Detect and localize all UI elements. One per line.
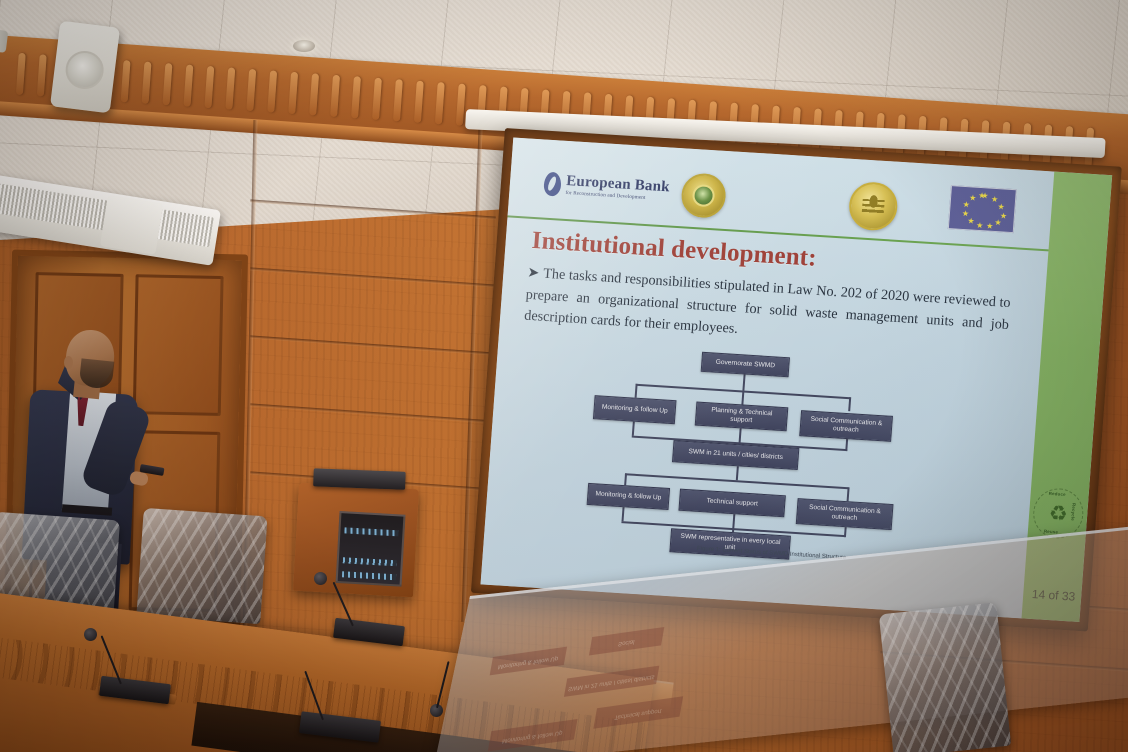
connector: [848, 397, 851, 411]
connector: [741, 390, 744, 404]
reflected-node: Social: [589, 627, 664, 656]
wall-speaker: [50, 21, 120, 114]
recessed-downlight-icon: [293, 40, 315, 52]
chair[interactable]: [136, 508, 267, 624]
mic-head-icon: [84, 628, 97, 641]
mic-head-icon: [314, 572, 327, 585]
arab-league-seal-icon: [680, 172, 727, 219]
conference-room-scene: European Bank for Reconstruction and Dev…: [0, 0, 1128, 752]
connector: [632, 422, 635, 436]
av-deck-unit: [313, 468, 406, 490]
connector: [736, 466, 739, 480]
org-node: Monitoring & follow Up: [587, 483, 670, 510]
org-node: Technical support: [678, 489, 785, 518]
recycle-word-reduce: Reduce: [1049, 491, 1066, 497]
reflected-node: Monitoring & follow Up: [490, 647, 567, 676]
chair[interactable]: [879, 602, 1011, 752]
ebrd-logo: European Bank for Reconstruction and Dev…: [543, 172, 670, 204]
av-rack-leds: [344, 527, 398, 536]
speaker-cone-icon: [63, 49, 105, 91]
connector: [742, 374, 745, 390]
door-panel-upper-right: [133, 274, 224, 416]
slide-reflection: Monitoring & follow Up Technical support…: [465, 565, 853, 752]
slide-bullet-text: The tasks and responsibilities stipulate…: [524, 266, 1011, 337]
org-node: Monitoring & follow Up: [593, 395, 677, 424]
connector: [847, 487, 850, 501]
reflected-node: Monitoring & follow Up: [488, 719, 578, 752]
eagle-glyph-icon: [861, 194, 885, 219]
connector: [635, 384, 638, 398]
connector: [622, 507, 625, 521]
org-chart-diagram: Governorate SWMD Monitoring & follow Up …: [583, 343, 968, 576]
egypt-eagle-seal-icon: [848, 181, 899, 232]
ear: [64, 356, 73, 369]
org-node: Social Communication & outreach: [799, 410, 893, 442]
reflected-node: Technical support: [593, 696, 683, 729]
slide-bullet: ➤The tasks and responsibilities stipulat…: [523, 263, 1011, 358]
bullet-arrow-icon: ➤: [527, 265, 540, 282]
reflected-node: SWM in 21 units / cities/ districts: [564, 666, 659, 697]
org-node: Social Communication & outreach: [796, 498, 894, 530]
arab-league-seal-inner: [692, 184, 716, 207]
eu-stars: ★ ★ ★ ★ ★ ★ ★ ★ ★ ★ ★ ★: [949, 186, 1016, 232]
org-node: Planning & Technical support: [695, 402, 789, 432]
av-equipment-cabinet[interactable]: [293, 483, 419, 598]
av-rack-leds: [342, 571, 396, 580]
connector: [624, 473, 626, 485]
av-rack-leds: [343, 557, 397, 566]
org-node: Governorate SWMD: [701, 352, 790, 377]
av-rack-window: [336, 511, 406, 587]
ebrd-mark-icon: [543, 172, 562, 197]
eu-flag-icon: ★ ★ ★ ★ ★ ★ ★ ★ ★ ★ ★ ★: [948, 185, 1017, 233]
air-curtain-housing: [100, 195, 163, 255]
